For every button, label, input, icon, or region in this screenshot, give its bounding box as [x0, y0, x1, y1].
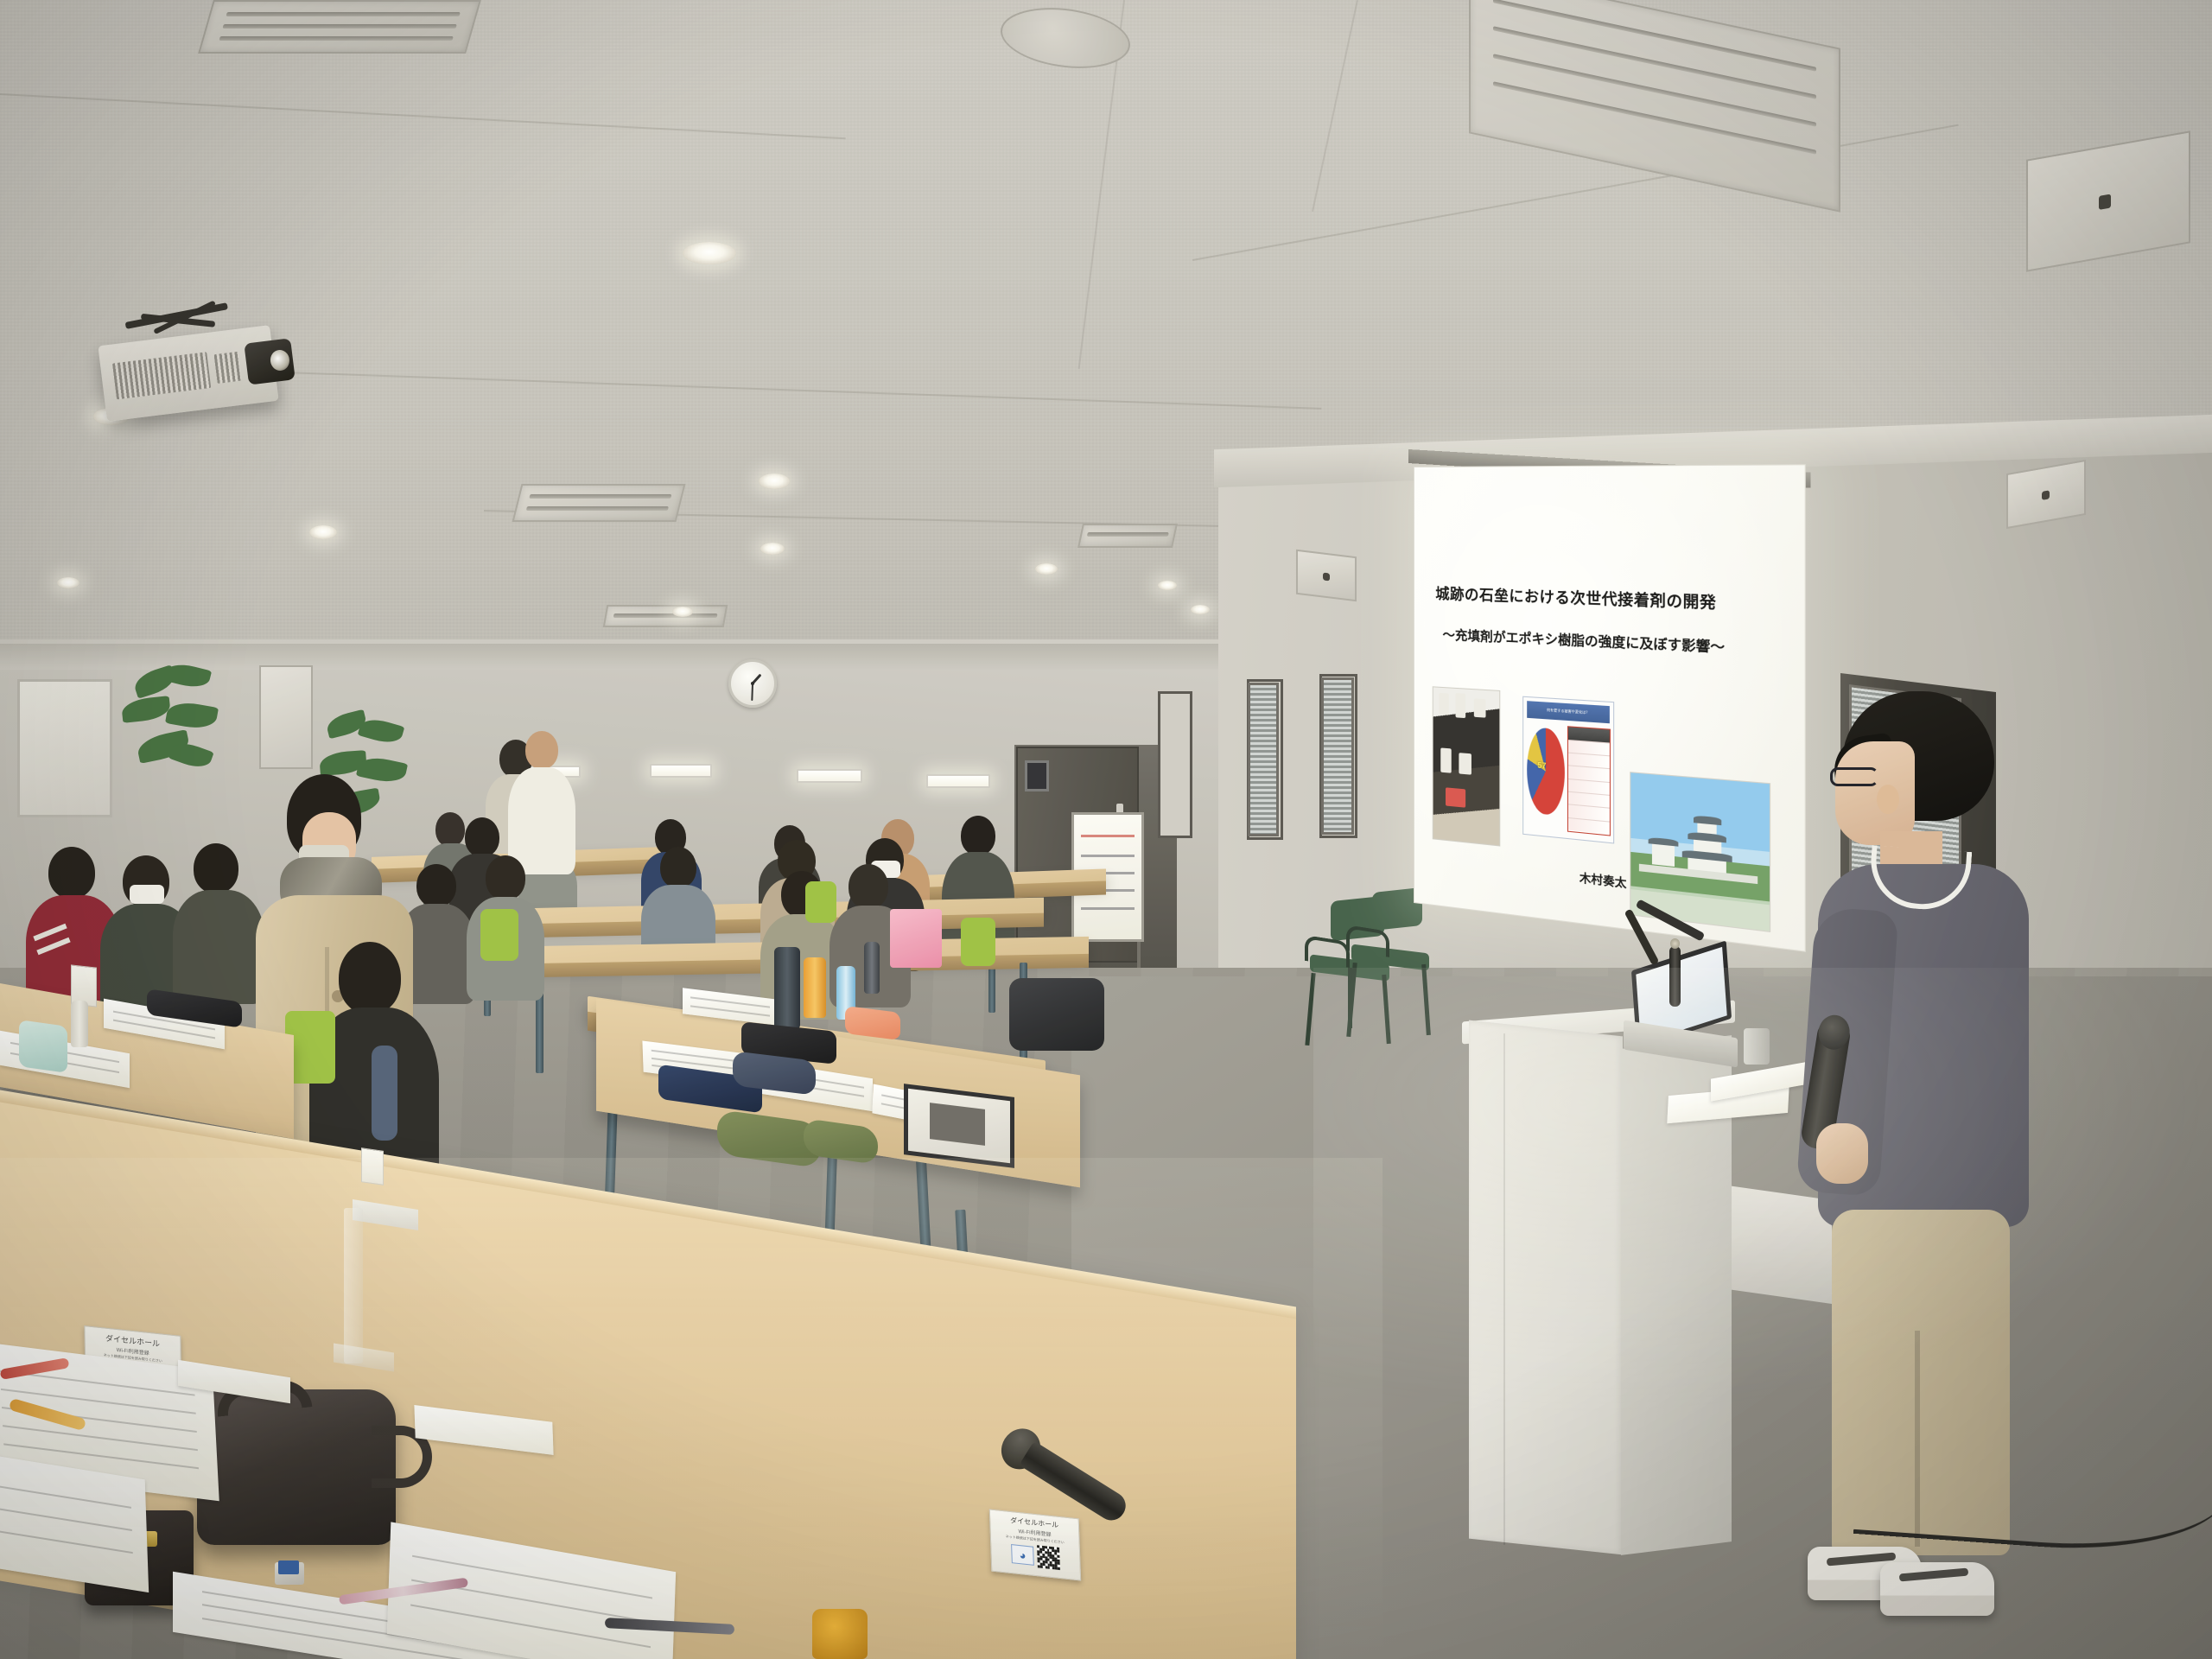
chart-table: [1567, 726, 1611, 836]
pouch: [19, 1020, 67, 1073]
podium-microphone[interactable]: [1666, 946, 1683, 1024]
ceiling-vent: [512, 484, 686, 522]
ceiling-vent: [1077, 524, 1178, 548]
exit-sign: [1025, 760, 1049, 791]
ceiling-downlight: [1191, 605, 1210, 614]
presenter-hand: [1816, 1123, 1868, 1184]
water-bottle: [804, 957, 826, 1018]
ceiling-vent: [198, 0, 481, 54]
acrylic-stand: [344, 1208, 363, 1363]
conference-room-photo: 城跡の石垒における次世代接着剤の開発 ～充填剤がエポキシ樹脂の強度に及ぼす影響～…: [0, 0, 2212, 1659]
projection-screen: 城跡の石垒における次世代接着剤の開発 ～充填剤がエポキシ樹脂の強度に及ぼす影響～…: [1414, 464, 1806, 952]
presenter-face: [1835, 741, 1915, 845]
ceiling-downlight: [57, 577, 79, 588]
thermos-bottle: [864, 942, 880, 994]
thermos-bottle: [774, 947, 800, 1030]
wall-strip-light: [650, 764, 712, 778]
wall-strip-light: [797, 769, 862, 783]
slide-chart: 何を要する被害や変化は？ 57: [1522, 696, 1614, 844]
face-mask: [130, 885, 164, 904]
ceiling-downlight: [1035, 563, 1058, 575]
water-glass: [1744, 1028, 1770, 1065]
tote-bag: [890, 909, 942, 968]
presenter-shoe: [1880, 1562, 1994, 1616]
window-blind: [1248, 683, 1279, 836]
ceiling-speaker: [1296, 550, 1357, 602]
water-bottle: [71, 1001, 88, 1047]
standing-person-back: [508, 731, 575, 874]
stacked-chair[interactable]: [1341, 890, 1445, 1041]
floor-cable: [1853, 1395, 2212, 1560]
backpack: [1009, 978, 1104, 1051]
presenter-ear: [1877, 785, 1899, 814]
pie-highlight-value: 57: [1537, 760, 1546, 770]
container-lid: [812, 1609, 868, 1659]
chair-back[interactable]: [805, 881, 836, 923]
ceiling-downlight: [683, 242, 736, 264]
pie-chart: 57: [1527, 728, 1564, 817]
ceiling-downlight: [759, 474, 790, 489]
potted-plant: [117, 665, 229, 795]
qr-code: [1037, 1545, 1060, 1570]
window-blind: [1321, 677, 1354, 835]
wifi-icon: ◕: [1011, 1544, 1034, 1566]
wifi-registration-card: ダイセルホール Wi-Fi利用登録 ネット接続は下記を読み取りください ◕: [989, 1509, 1081, 1580]
ceiling-downlight: [1158, 581, 1177, 590]
chart-title: 何を要する被害や変化は？: [1527, 701, 1610, 723]
wall-clock: [728, 659, 777, 708]
wall-strip-light: [926, 774, 990, 788]
ceiling-downlight: [672, 607, 693, 617]
wall-notice-frame: [1158, 691, 1192, 838]
slide-photo-lab: [1432, 686, 1500, 846]
name-card-stand: [361, 1147, 384, 1185]
ceiling-downlight: [760, 543, 785, 555]
ceiling-vent: [603, 605, 728, 627]
chair-back[interactable]: [480, 909, 518, 961]
presenter-glasses: [1830, 767, 1878, 786]
chair-back[interactable]: [961, 918, 995, 966]
ceiling-downlight: [309, 525, 337, 539]
